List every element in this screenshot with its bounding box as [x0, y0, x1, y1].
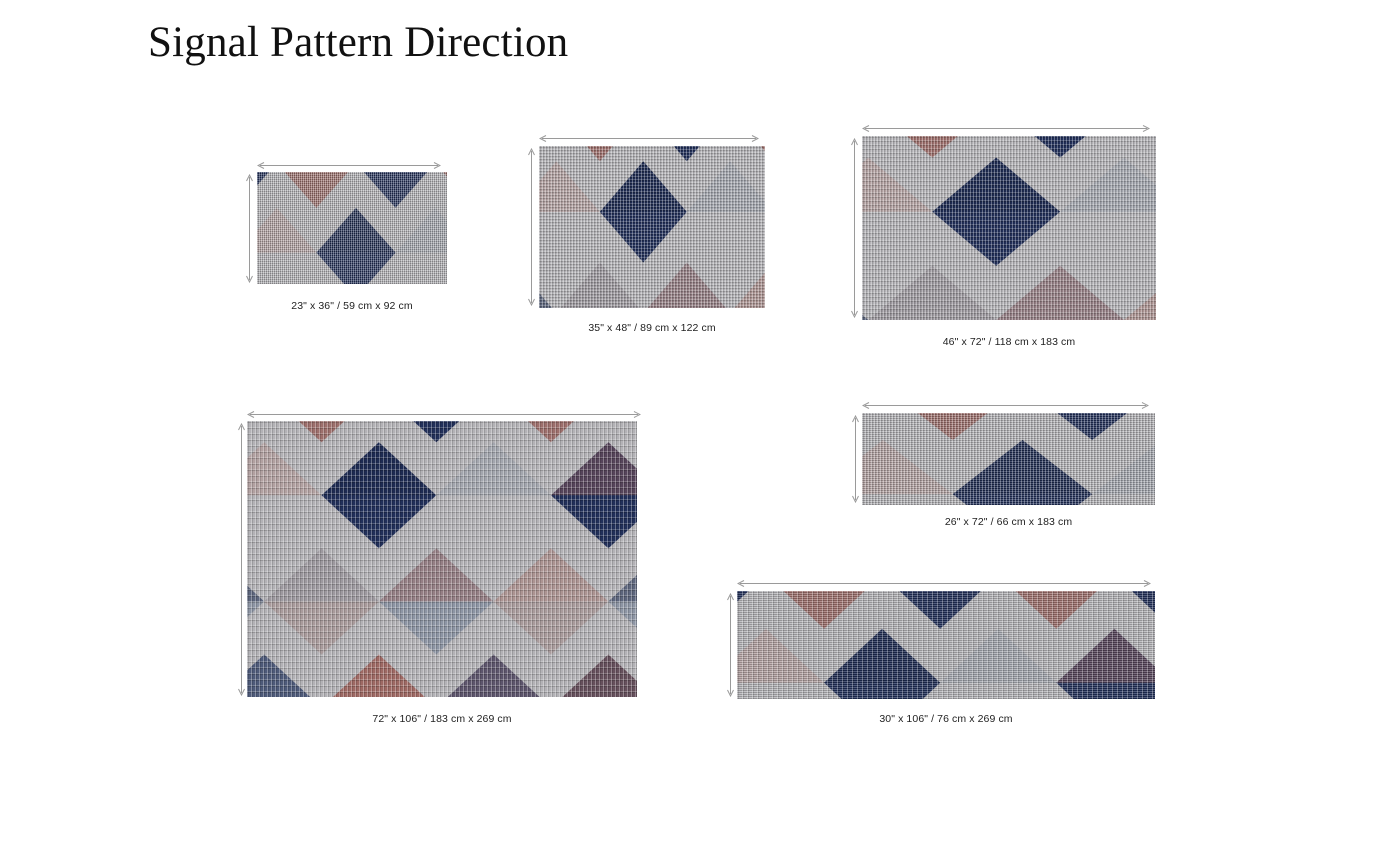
height-dimension-arrow-icon: [850, 138, 859, 318]
rug-image-30x106[interactable]: [737, 591, 1155, 699]
rug-swatch-72x106[interactable]: 72" x 106" / 183 cm x 269 cm: [0, 0, 1375, 850]
rug-image-72x106[interactable]: [247, 421, 637, 697]
rug-image-46x72[interactable]: [862, 136, 1156, 320]
width-dimension-arrow-icon: [247, 410, 641, 419]
rug-size-label: 26" x 72" / 66 cm x 183 cm: [862, 516, 1155, 528]
rug-swatch-35x48[interactable]: 35" x 48" / 89 cm x 122 cm: [0, 0, 1375, 850]
rug-size-label: 23" x 36" / 59 cm x 92 cm: [257, 300, 447, 312]
rug-image-35x48[interactable]: [539, 146, 765, 308]
width-dimension-arrow-icon: [862, 401, 1149, 410]
height-dimension-arrow-icon: [726, 593, 735, 697]
width-dimension-arrow-icon: [737, 579, 1151, 588]
rug-swatch-30x106[interactable]: 30" x 106" / 76 cm x 269 cm: [0, 0, 1375, 850]
width-dimension-arrow-icon: [862, 124, 1150, 133]
rug-swatch-46x72[interactable]: 46" x 72" / 118 cm x 183 cm: [0, 0, 1375, 850]
rug-size-label: 30" x 106" / 76 cm x 269 cm: [737, 713, 1155, 725]
rug-image-23x36[interactable]: [257, 172, 447, 284]
height-dimension-arrow-icon: [851, 415, 860, 503]
page-title: Signal Pattern Direction: [148, 18, 568, 67]
rug-size-label: 72" x 106" / 183 cm x 269 cm: [247, 713, 637, 725]
rug-swatch-23x36[interactable]: 23" x 36" / 59 cm x 92 cm: [0, 0, 1375, 850]
width-dimension-arrow-icon: [539, 134, 759, 143]
height-dimension-arrow-icon: [527, 148, 536, 306]
rug-size-label: 35" x 48" / 89 cm x 122 cm: [539, 322, 765, 334]
height-dimension-arrow-icon: [237, 423, 246, 696]
width-dimension-arrow-icon: [257, 161, 441, 170]
rug-swatch-26x72[interactable]: 26" x 72" / 66 cm x 183 cm: [0, 0, 1375, 850]
rug-image-26x72[interactable]: [862, 413, 1155, 505]
rug-size-label: 46" x 72" / 118 cm x 183 cm: [862, 336, 1156, 348]
height-dimension-arrow-icon: [245, 174, 254, 283]
